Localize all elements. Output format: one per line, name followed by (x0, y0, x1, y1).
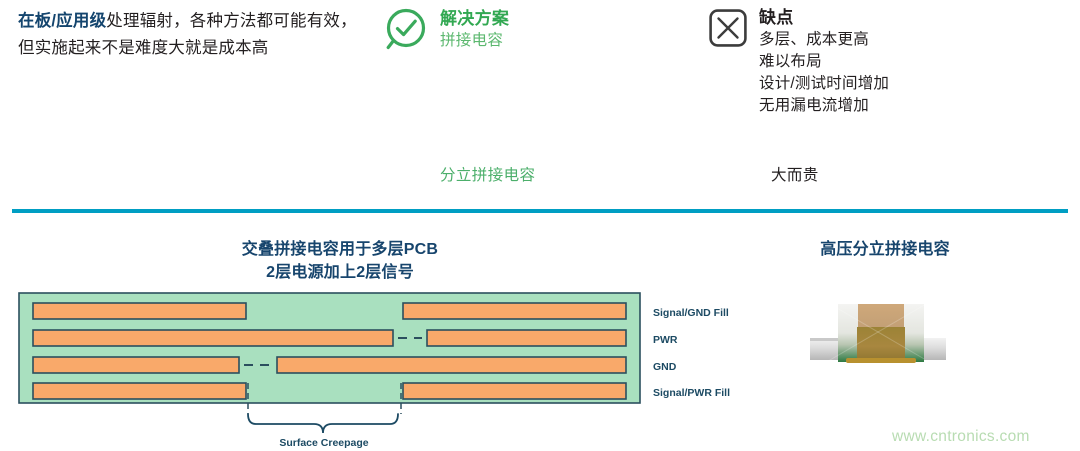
cap-panel-heading: 高压分立拼接电容 (700, 238, 1070, 261)
trace-signal-pwr-left (33, 383, 246, 399)
drawback-item: 多层、成本更高 (759, 29, 889, 51)
layer-label-pwr: PWR (653, 334, 678, 346)
trace-pwr-right (427, 330, 626, 346)
pcb-cross-section-diagram: Signal/GND Fill PWR GND Signal/PWR Fill … (0, 286, 740, 451)
drawbacks-detail-text: 大而贵 (771, 163, 819, 185)
x-square-icon (708, 8, 748, 48)
trace-gnd-right (277, 357, 626, 373)
layer-label-gnd: GND (653, 361, 677, 373)
mlcc-capacitor-photo (808, 295, 1008, 415)
pcb-panel-heading: 交叠拼接电容用于多层PCB 2层电源加上2层信号 (30, 238, 650, 284)
pcb-heading-line1: 交叠拼接电容用于多层PCB (30, 238, 650, 261)
solution-subtitle: 拼接电容 (440, 31, 509, 51)
intro-paragraph: 在板/应用级处理辐射，各种方法都可能有效，但实施起来不是难度大就是成本高 (18, 8, 368, 61)
intro-lead: 在板/应用级 (18, 12, 106, 30)
layer-label-signal-pwr: Signal/PWR Fill (653, 387, 730, 399)
creepage-label: Surface Creepage (279, 437, 368, 449)
ceramic-body-top (858, 304, 904, 327)
trace-gnd-left (33, 357, 239, 373)
section-divider (12, 209, 1068, 213)
drawbacks-list: 多层、成本更高 难以布局 设计/测试时间增加 无用漏电流增加 (759, 29, 889, 117)
slide-root: 在板/应用级处理辐射，各种方法都可能有效，但实施起来不是难度大就是成本高 解决方… (0, 0, 1080, 451)
lead-frame (846, 358, 916, 363)
drawback-item: 设计/测试时间增加 (759, 73, 889, 95)
creepage-brace (248, 414, 398, 433)
trace-signal-gnd-right (403, 303, 626, 319)
right-termination (902, 304, 924, 362)
trace-signal-pwr-right (403, 383, 626, 399)
solution-block: 解决方案 拼接电容 (385, 6, 685, 51)
ceramic-body (857, 327, 905, 362)
layer-label-signal-gnd: Signal/GND Fill (653, 307, 729, 319)
drawback-item: 难以布局 (759, 51, 889, 73)
solution-title: 解决方案 (440, 8, 509, 29)
solution-detail-text: 分立拼接电容 (440, 163, 535, 185)
solution-header: 解决方案 拼接电容 (385, 6, 685, 51)
drawbacks-title: 缺点 (759, 7, 889, 28)
check-circle-icon (385, 7, 429, 51)
solution-text: 解决方案 拼接电容 (440, 6, 509, 51)
drawback-item: 无用漏电流增加 (759, 95, 889, 117)
trace-pwr-left (33, 330, 393, 346)
drawbacks-header: 缺点 多层、成本更高 难以布局 设计/测试时间增加 无用漏电流增加 (708, 6, 1038, 117)
trace-signal-gnd-left (33, 303, 246, 319)
drawbacks-block: 缺点 多层、成本更高 难以布局 设计/测试时间增加 无用漏电流增加 (708, 6, 1038, 117)
drawbacks-text: 缺点 多层、成本更高 难以布局 设计/测试时间增加 无用漏电流增加 (759, 6, 889, 117)
site-watermark: www.cntronics.com (892, 428, 1030, 446)
pcb-heading-line2: 2层电源加上2层信号 (30, 261, 650, 284)
